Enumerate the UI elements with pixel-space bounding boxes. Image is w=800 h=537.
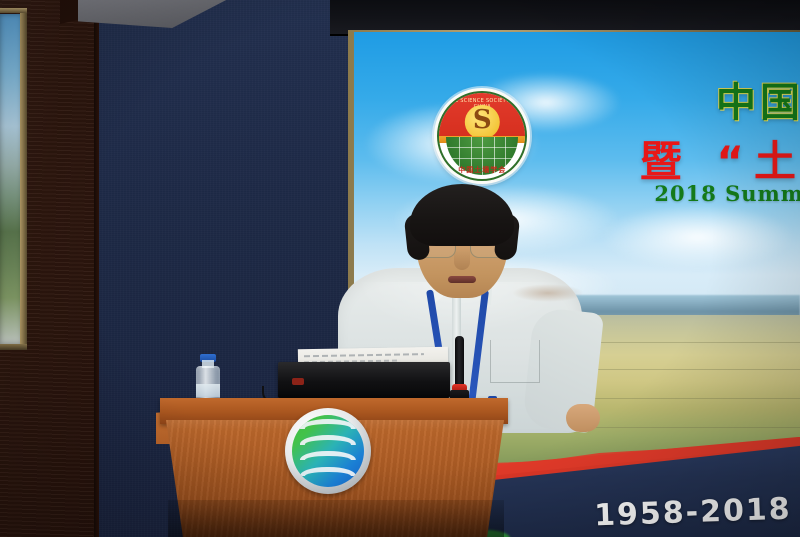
emblem-letter: S	[473, 107, 492, 133]
society-emblem: SOIL SCIENCE SOCIETY OF CHINA S 中国土壤学会	[434, 88, 530, 184]
hand	[566, 404, 600, 432]
wood-panel-edge	[94, 0, 99, 537]
podium-globe-emblem	[285, 408, 371, 494]
window-frame-bottom	[0, 344, 27, 350]
photo-scene: SOIL SCIENCE SOCIETY OF CHINA S 中国土壤学会 中…	[0, 0, 800, 537]
mouth	[448, 276, 476, 283]
screen-headline-green: 中国	[716, 70, 800, 128]
emblem-inner-text: 中国土壤学会	[439, 165, 525, 175]
laptop-logo-icon	[292, 378, 304, 385]
screen-subtitle-english: 2018 Summ	[654, 181, 800, 206]
bottle-label	[196, 384, 220, 397]
hair	[410, 184, 514, 246]
shirt-pocket	[490, 340, 540, 383]
screen-headline-red: 暨 “土	[640, 128, 800, 189]
window-frame-top	[0, 8, 27, 13]
window-strip	[0, 14, 22, 344]
window-frame	[20, 10, 27, 348]
cloud	[599, 204, 795, 270]
